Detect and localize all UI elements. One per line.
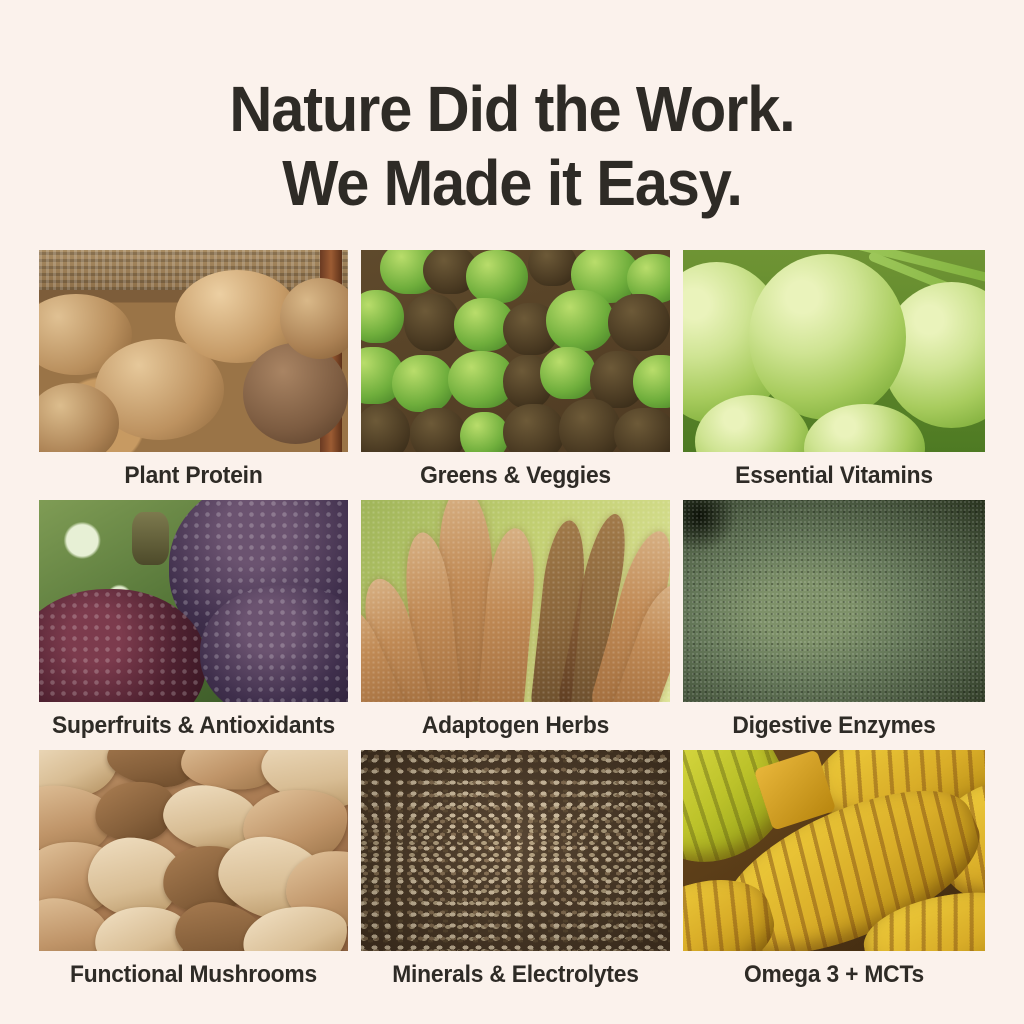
acai-berry-clusters-photo bbox=[39, 500, 348, 702]
grid-item[interactable]: Greens & Veggies bbox=[361, 250, 670, 500]
young-green-coconuts-photo bbox=[683, 250, 985, 452]
grid-item[interactable]: Minerals & Electrolytes bbox=[361, 750, 670, 999]
maitake-mushrooms-photo bbox=[39, 750, 348, 951]
grid-item-caption: Plant Protein bbox=[47, 452, 341, 500]
yellow-cacao-pods-photo bbox=[683, 750, 985, 951]
green-star-pods-vegetables-photo bbox=[361, 250, 670, 452]
grid-item[interactable]: Essential Vitamins bbox=[683, 250, 985, 500]
green-superfood-powder-photo bbox=[683, 500, 985, 702]
chia-seeds-photo bbox=[361, 750, 670, 951]
grid-item-caption: Superfruits & Antioxidants bbox=[47, 702, 341, 750]
grid-item-caption: Digestive Enzymes bbox=[691, 702, 978, 750]
grid-item-caption: Adaptogen Herbs bbox=[369, 702, 663, 750]
headline-line-2: We Made it Easy. bbox=[36, 146, 988, 220]
ingredient-grid: Plant Protein bbox=[39, 250, 985, 999]
grid-item[interactable]: Functional Mushrooms bbox=[39, 750, 348, 999]
grid-item[interactable]: Adaptogen Herbs bbox=[361, 500, 670, 750]
grid-item-caption: Omega 3 + MCTs bbox=[691, 951, 978, 999]
grid-item-caption: Functional Mushrooms bbox=[47, 951, 341, 999]
grid-item-caption: Essential Vitamins bbox=[691, 452, 978, 500]
grid-item-caption: Minerals & Electrolytes bbox=[369, 951, 663, 999]
promo-graphic: Nature Did the Work. We Made it Easy. Pl… bbox=[0, 0, 1024, 1024]
grid-item[interactable]: Omega 3 + MCTs bbox=[683, 750, 985, 999]
grid-item[interactable]: Digestive Enzymes bbox=[683, 500, 985, 750]
grid-item[interactable]: Plant Protein bbox=[39, 250, 348, 500]
dried-plant-protein-roots-photo bbox=[39, 250, 348, 452]
headline-line-1: Nature Did the Work. bbox=[36, 72, 988, 146]
grid-item[interactable]: Superfruits & Antioxidants bbox=[39, 500, 348, 750]
grid-item-caption: Greens & Veggies bbox=[369, 452, 663, 500]
page-title: Nature Did the Work. We Made it Easy. bbox=[36, 72, 988, 220]
amaranth-herb-spikes-photo bbox=[361, 500, 670, 702]
